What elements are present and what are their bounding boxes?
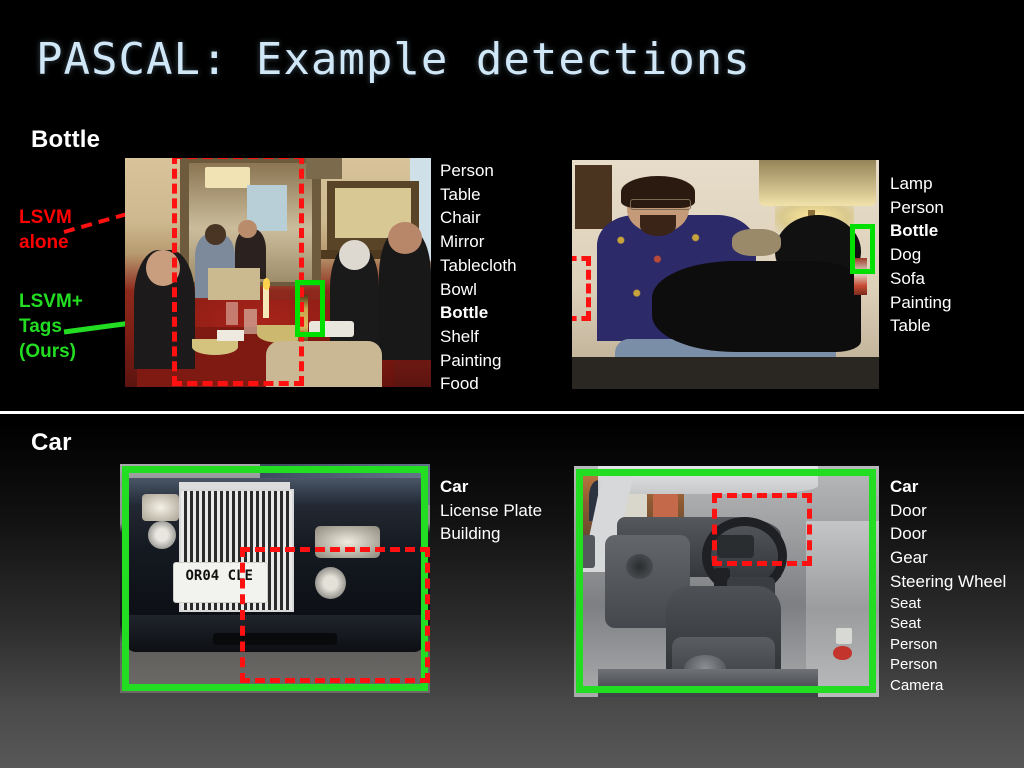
list-item: Person (890, 635, 1006, 656)
list-item: Food (440, 372, 517, 396)
example-image-rollsroyce: OR04 CLE (120, 464, 430, 693)
list-item: Door (890, 499, 1006, 523)
list-item: Person (440, 159, 517, 183)
list-item: Shelf (440, 325, 517, 349)
legend-lsvm-alone: LSVM alone (19, 205, 72, 255)
example-image-dinner (125, 158, 431, 387)
section-header-car: Car (31, 429, 72, 457)
tag-list-dinner: Person Table Chair Mirror Tablecloth Bow… (440, 159, 517, 396)
list-item: Camera (890, 676, 1006, 697)
list-item: Lamp (890, 172, 951, 196)
list-item: Table (440, 183, 517, 207)
list-item: Building (440, 522, 542, 546)
detection-box-green-dinner (295, 280, 325, 337)
detection-box-red-dog (572, 256, 591, 321)
list-item: Painting (440, 349, 517, 373)
example-image-dog (572, 160, 879, 389)
tag-list-rollsroyce: Car License Plate Building (440, 475, 542, 546)
list-item: Tablecloth (440, 254, 517, 278)
tag-list-carinterior: Car Door Door Gear Steering Wheel Seat S… (890, 475, 1006, 696)
list-item: Bottle (890, 219, 951, 243)
tag-list-dog: Lamp Person Bottle Dog Sofa Painting Tab… (890, 172, 951, 338)
list-item: Seat (890, 594, 1006, 615)
list-item: Sofa (890, 267, 951, 291)
section-header-bottle: Bottle (31, 126, 100, 154)
detection-box-red-carinterior (712, 493, 812, 566)
detection-box-red-dinner (172, 158, 304, 386)
list-item: License Plate (440, 499, 542, 523)
list-item: Steering Wheel (890, 570, 1006, 594)
slide-canvas: PASCAL: Example detections Bottle LSVM a… (0, 0, 1024, 768)
list-item: Bottle (440, 301, 517, 325)
detection-box-green-dog (850, 224, 875, 274)
list-item: Door (890, 522, 1006, 546)
page-title: PASCAL: Example detections (36, 34, 751, 85)
list-item: Bowl (440, 278, 517, 302)
list-item: Dog (890, 243, 951, 267)
list-item: Table (890, 314, 951, 338)
list-item: Mirror (440, 230, 517, 254)
detection-box-red-rollsroyce (240, 547, 430, 683)
legend-lsvm-tags: LSVM+ Tags (Ours) (19, 289, 83, 364)
list-item: Seat (890, 614, 1006, 635)
list-item: Car (440, 475, 542, 499)
list-item: Person (890, 655, 1006, 676)
dog-scene (572, 160, 879, 389)
list-item: Chair (440, 206, 517, 230)
example-image-carinterior (574, 466, 879, 697)
list-item: Painting (890, 291, 951, 315)
section-divider (0, 411, 1024, 414)
list-item: Person (890, 196, 951, 220)
list-item: Car (890, 475, 1006, 499)
list-item: Gear (890, 546, 1006, 570)
